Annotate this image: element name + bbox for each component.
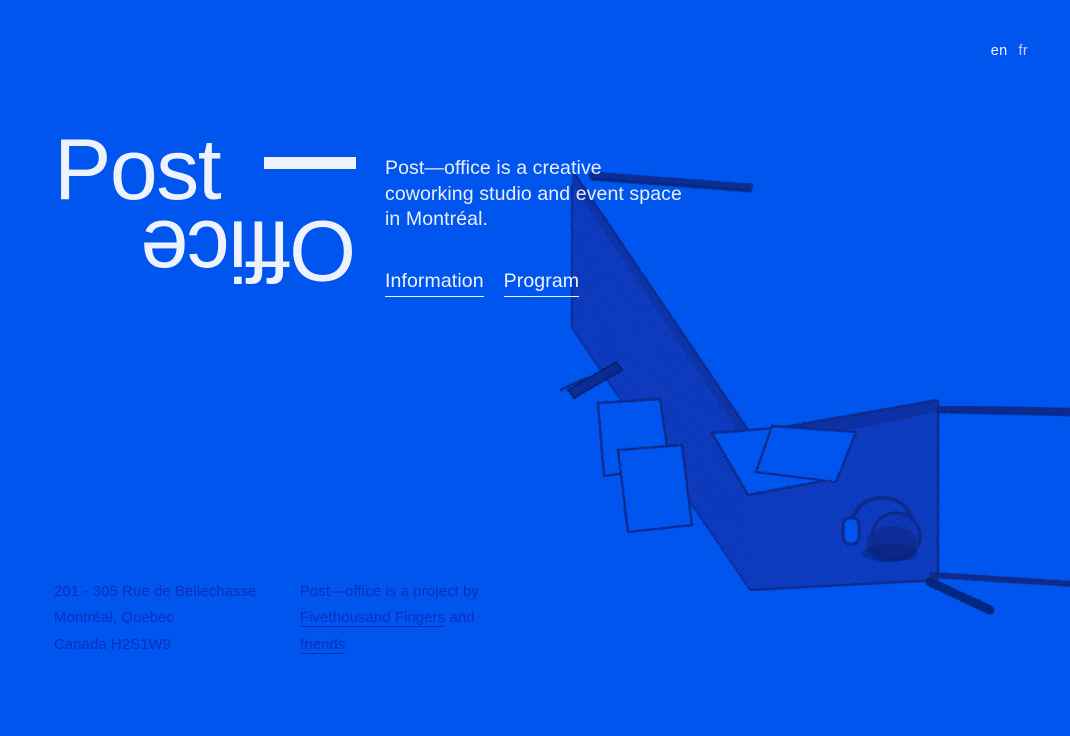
logo-line-one-row: Post [54, 128, 356, 212]
link-fivethousand-fingers[interactable]: Fivethousand Fingers [300, 610, 445, 627]
footer: 201 - 305 Rue de Bellechasse Montréal, Q… [54, 579, 530, 659]
desk-leg-bottom [930, 575, 1070, 610]
footer-credit: Post—office is a project by Fivethousand… [300, 579, 530, 659]
language-nav: en fr [991, 43, 1028, 59]
headphones [843, 498, 920, 562]
desk-leg-right [938, 408, 1070, 416]
logo-em-dash-icon [264, 157, 356, 169]
logo-word-post: Post [54, 128, 220, 212]
credit-line-3: friends [300, 632, 530, 659]
address-line-3: Canada H2S1W9 [54, 632, 300, 659]
intro-block: Post—office is a creative coworking stud… [385, 156, 685, 297]
intro-paragraph: Post—office is a creative coworking stud… [385, 156, 685, 233]
site-logo[interactable]: Post Office [54, 128, 364, 293]
paper-sheet-2 [618, 445, 692, 532]
lang-link-en[interactable]: en [991, 43, 1008, 59]
paper-sheet-edge [560, 378, 586, 395]
pen [568, 362, 622, 398]
address-line-2: Montréal, Quebec [54, 605, 300, 632]
intro-links: Information Program [385, 269, 685, 297]
paper-sheet-5 [712, 426, 828, 495]
landing-page: en fr Post Office Post—office is a creat… [0, 0, 1070, 736]
lang-link-fr[interactable]: fr [1019, 43, 1028, 59]
paper-sheet-1 [598, 399, 670, 476]
paper-sheet-4 [756, 426, 856, 482]
link-friends[interactable]: friends [300, 637, 345, 654]
logo-word-office: Office [54, 208, 356, 292]
credit-middle: and [450, 610, 475, 626]
footer-address: 201 - 305 Rue de Bellechasse Montréal, Q… [54, 579, 300, 659]
link-information[interactable]: Information [385, 269, 484, 297]
credit-line-2: Fivethousand Fingers and [300, 605, 530, 632]
address-line-1: 201 - 305 Rue de Bellechasse [54, 579, 300, 606]
link-program[interactable]: Program [504, 269, 579, 297]
credit-prefix: Post—office is a project by [300, 579, 530, 606]
